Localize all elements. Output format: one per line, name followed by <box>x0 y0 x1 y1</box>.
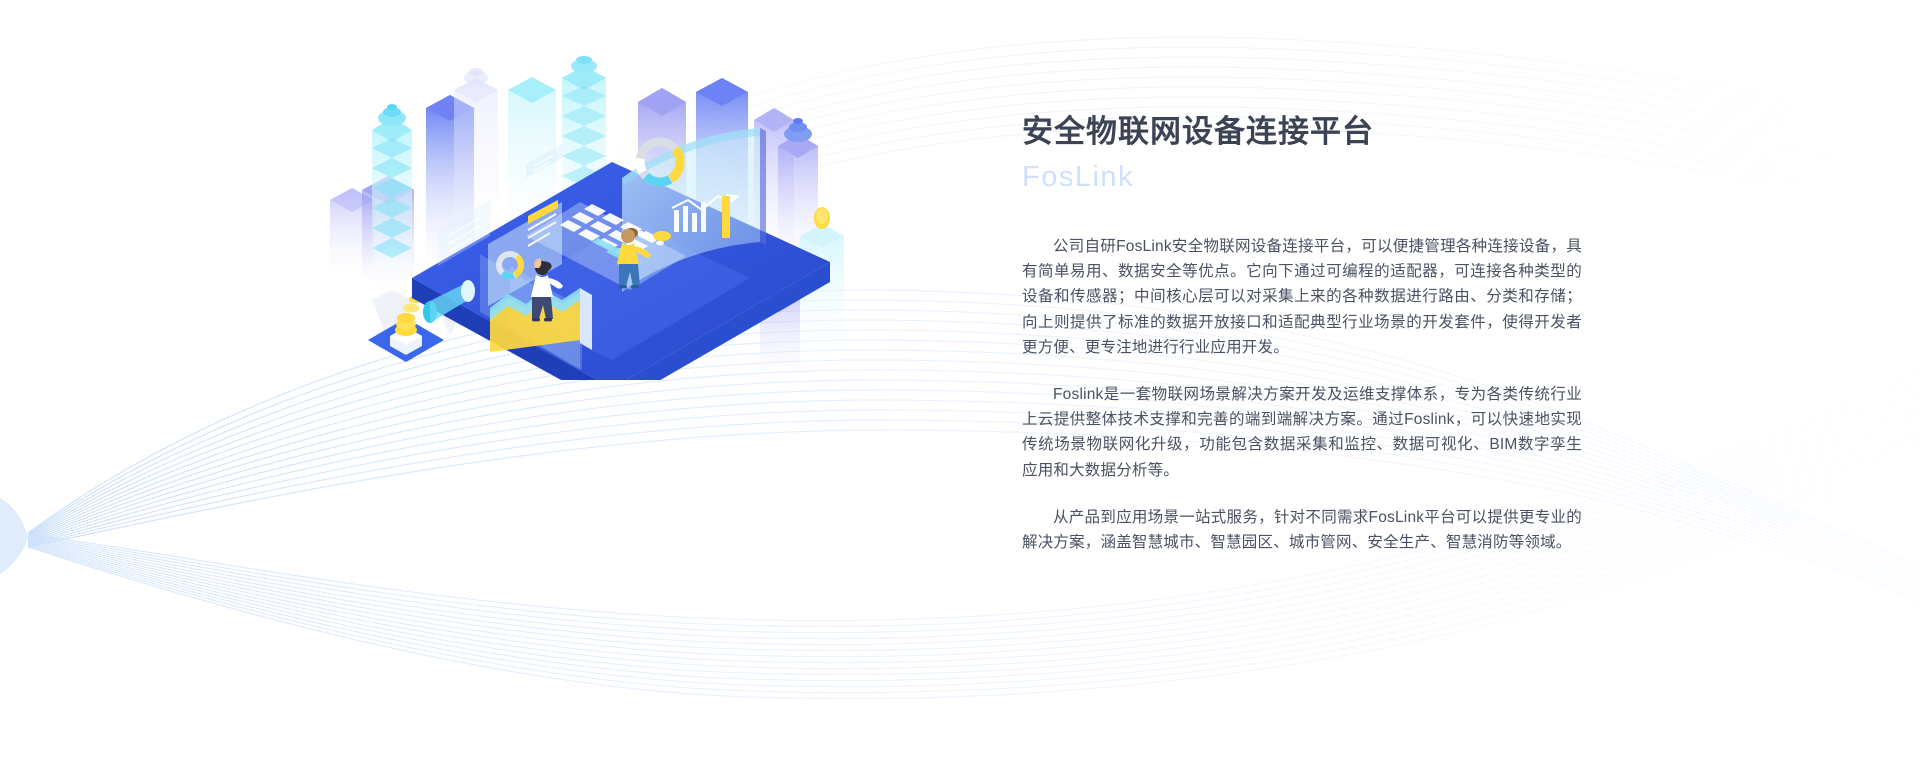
description-paragraph-3: 从产品到应用场景一站式服务，针对不同需求FosLink平台可以提供更专业的解决方… <box>1022 505 1582 555</box>
decorative-wave-background <box>0 0 1920 760</box>
coin-icon <box>653 231 671 241</box>
hero-banner: 安全物联网设备连接平台 FosLink 公司自研FosLink安全物联网设备连接… <box>0 0 1920 760</box>
page-title: 安全物联网设备连接平台 <box>1022 112 1582 152</box>
page-subtitle: FosLink <box>1022 158 1582 196</box>
hero-text-column: 安全物联网设备连接平台 FosLink 公司自研FosLink安全物联网设备连接… <box>1022 112 1582 555</box>
tiered-cyan-tower <box>372 104 412 287</box>
description-paragraph-1: 公司自研FosLink安全物联网设备连接平台，可以便捷管理各种连接设备，具有简单… <box>1022 234 1582 360</box>
description-paragraph-2: Foslink是一套物联网场景解决方案开发及运维支撑体系，专为各类传统行业上云提… <box>1022 382 1582 483</box>
description-body: 公司自研FosLink安全物联网设备连接平台，可以便捷管理各种连接设备，具有简单… <box>1022 234 1582 555</box>
iot-platform-illustration <box>330 50 850 380</box>
